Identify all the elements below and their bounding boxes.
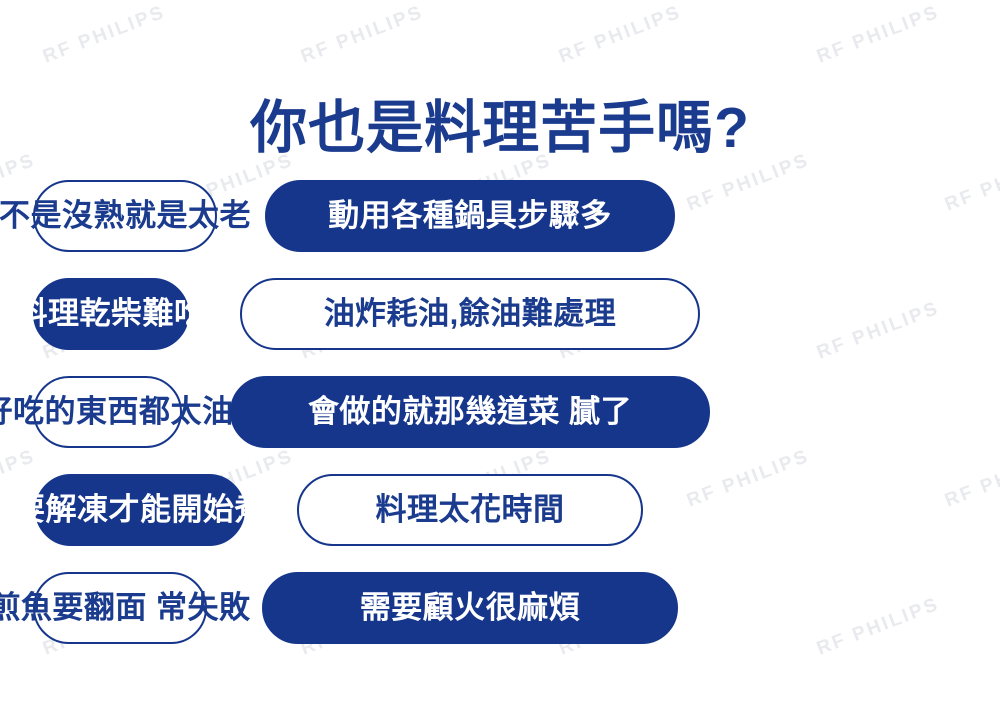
- pill-row: 不是沒熟就是太老動用各種鍋具步驟多: [0, 180, 1000, 252]
- pain-point-label: 動用各種鍋具步驟多: [328, 200, 612, 233]
- pain-point-label: 要解凍才能開始煮: [14, 494, 266, 527]
- pain-point-label: 煎魚要翻面 常失敗: [0, 592, 251, 625]
- pain-point-pill-right[interactable]: 動用各種鍋具步驟多: [265, 180, 675, 252]
- page-title: 你也是料理苦手嗎?: [0, 94, 1000, 162]
- pain-point-label: 不是沒熟就是太老: [0, 200, 251, 233]
- pain-point-pill-left[interactable]: 不是沒熟就是太老: [33, 180, 217, 252]
- pain-point-pill-right[interactable]: 料理太花時間: [297, 474, 643, 546]
- pain-point-label: 油炸耗油,餘油難處理: [324, 298, 617, 331]
- pill-row: 要解凍才能開始煮料理太花時間: [0, 474, 1000, 546]
- pain-point-pill-right[interactable]: 需要顧火很麻煩: [262, 572, 678, 644]
- pain-point-label: 料理乾柴難吃: [17, 298, 206, 331]
- pain-point-label: 會做的就那幾道菜 膩了: [308, 396, 632, 429]
- pain-point-pill-right[interactable]: 油炸耗油,餘油難處理: [240, 278, 700, 350]
- pain-point-pill-grid: 不是沒熟就是太老動用各種鍋具步驟多料理乾柴難吃油炸耗油,餘油難處理好吃的東西都太…: [0, 180, 1000, 670]
- pain-point-label: 需要顧火很麻煩: [360, 592, 581, 625]
- pain-point-pill-left[interactable]: 料理乾柴難吃: [33, 278, 189, 350]
- poster-canvas: 你也是料理苦手嗎? 不是沒熟就是太老動用各種鍋具步驟多料理乾柴難吃油炸耗油,餘油…: [0, 0, 1000, 705]
- pill-row: 煎魚要翻面 常失敗需要顧火很麻煩: [0, 572, 1000, 644]
- pill-row: 好吃的東西都太油會做的就那幾道菜 膩了: [0, 376, 1000, 448]
- pain-point-pill-left[interactable]: 要解凍才能開始煮: [35, 474, 245, 546]
- pain-point-pill-left[interactable]: 好吃的東西都太油: [33, 376, 182, 448]
- pain-point-label: 好吃的東西都太油: [0, 396, 234, 429]
- pain-point-pill-right[interactable]: 會做的就那幾道菜 膩了: [230, 376, 710, 448]
- pain-point-pill-left[interactable]: 煎魚要翻面 常失敗: [33, 572, 207, 644]
- pill-row: 料理乾柴難吃油炸耗油,餘油難處理: [0, 278, 1000, 350]
- pain-point-label: 料理太花時間: [376, 494, 565, 527]
